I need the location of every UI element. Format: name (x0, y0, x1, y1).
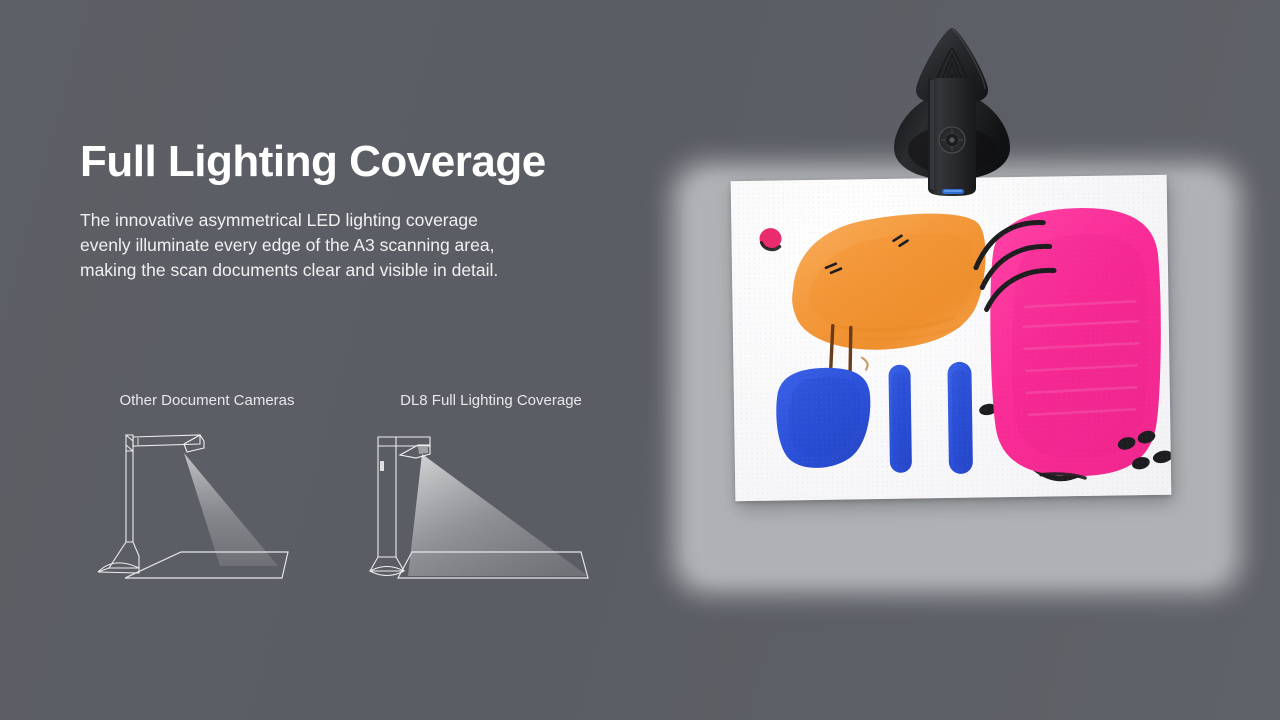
lighting-comparison: Other Document Cameras (80, 392, 620, 602)
scanner-camera-lens (939, 127, 965, 153)
document-camera-narrow-beam-icon (92, 421, 322, 596)
art-magenta-blob (989, 207, 1164, 478)
comparison-label-other-cameras: Other Document Cameras (92, 392, 322, 409)
text-column: Full Lighting Coverage The innovative as… (80, 138, 620, 284)
art-blue-bars (888, 362, 973, 475)
description-line-3: making the scan documents clear and visi… (80, 258, 620, 283)
a3-scanned-artwork (731, 175, 1172, 501)
marker-artwork (731, 175, 1172, 501)
document-camera-wide-beam-icon (366, 421, 616, 596)
description-line-1: The innovative asymmetrical LED lighting… (80, 208, 620, 233)
slide-canvas: Full Lighting Coverage The innovative as… (0, 0, 1280, 720)
page-description: The innovative asymmetrical LED lighting… (80, 208, 620, 284)
page-title: Full Lighting Coverage (80, 138, 620, 186)
scanner-device-graphic (886, 0, 1018, 200)
product-scene (624, 0, 1280, 720)
art-orange-blob (791, 213, 987, 351)
comparison-item-dl8: DL8 Full Lighting Coverage (366, 392, 616, 596)
art-blue-blob (776, 367, 872, 468)
description-line-2: evenly illuminate every edge of the A3 s… (80, 233, 620, 258)
comparison-item-other-cameras: Other Document Cameras (92, 392, 322, 596)
comparison-label-dl8: DL8 Full Lighting Coverage (366, 392, 616, 409)
dl8-document-scanner (886, 0, 1018, 200)
